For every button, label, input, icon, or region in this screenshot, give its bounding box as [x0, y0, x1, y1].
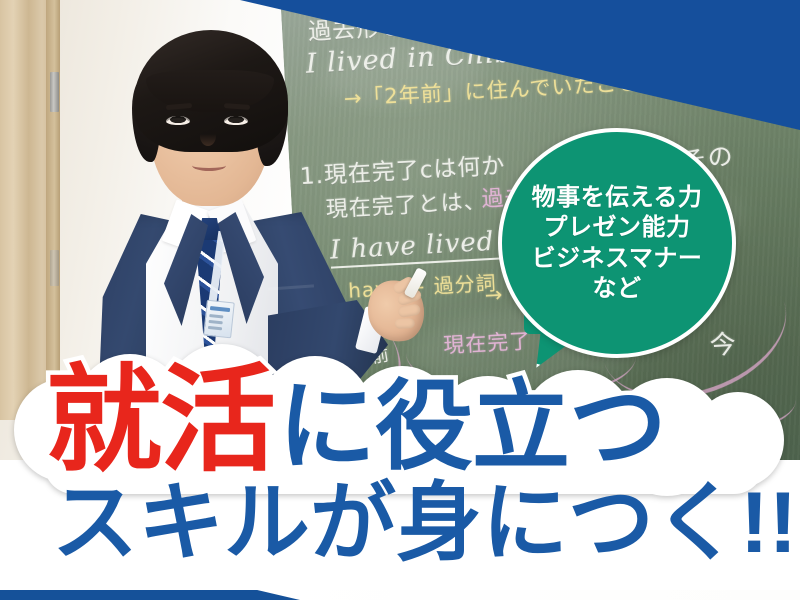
headline-block: 就活 に役立つ スキルが身につく!! — [0, 344, 800, 584]
door-hinge-upper — [50, 72, 59, 112]
poster-canvas: 0. 過去形とは、現在 I lived in Chiba two years a… — [0, 0, 800, 600]
headline-red-text: 就活 — [46, 362, 274, 478]
headline-navy-text: に役立つ — [278, 377, 666, 475]
headline-line-1: 就活 に役立つ — [46, 362, 666, 472]
headline-line-2: スキルが身につく!! — [52, 480, 797, 566]
bubble-line-1: 物事を伝える力 — [532, 183, 703, 212]
eye-left — [166, 116, 190, 125]
eye-right — [224, 116, 248, 125]
bubble-line-4: など — [593, 274, 642, 303]
bubble-line-2: プレゼン能力 — [544, 213, 691, 242]
finger — [397, 303, 421, 318]
bubble-line-3: ビジネスマナー — [532, 244, 703, 273]
id-badge — [203, 300, 235, 339]
nose — [200, 126, 216, 146]
speech-bubble: 物事を伝える力 プレゼン能力 ビジネスマナー など — [498, 128, 736, 358]
finger — [395, 318, 415, 329]
door-hinge-lower — [50, 250, 59, 286]
mouth — [192, 160, 226, 171]
